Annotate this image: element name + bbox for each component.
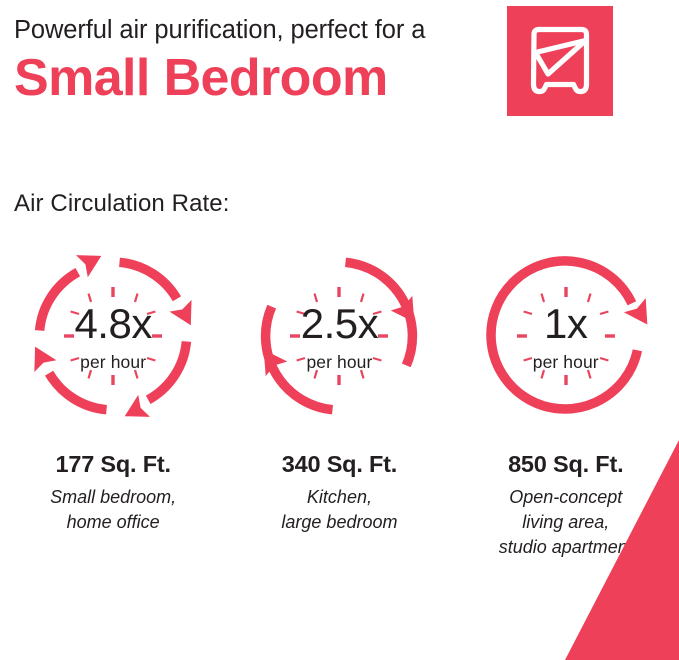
- section-title: Air Circulation Rate:: [14, 190, 230, 218]
- dial-card-1: 4.8x per hour 177 Sq. Ft. Small bedroom,…: [0, 243, 226, 559]
- dial-area-label: 340 Sq. Ft.: [282, 451, 397, 478]
- dial-label-2: 2.5x per hour: [246, 243, 432, 431]
- bed-badge: [507, 6, 613, 116]
- dial-label-1: 4.8x per hour: [20, 243, 206, 431]
- dial-graphic-2: 2.5x per hour: [246, 243, 432, 431]
- dial-unit: per hour: [306, 354, 372, 372]
- dial-row: 4.8x per hour 177 Sq. Ft. Small bedroom,…: [0, 243, 679, 559]
- header: Powerful air purification, perfect for a…: [14, 16, 494, 108]
- dial-description: Open-concept living area, studio apartme…: [499, 485, 633, 559]
- dial-area-label: 177 Sq. Ft.: [55, 451, 170, 478]
- dial-card-2: 2.5x per hour 340 Sq. Ft. Kitchen, large…: [226, 243, 452, 559]
- dial-graphic-3: 1x per hour: [473, 243, 659, 431]
- dial-unit: per hour: [80, 354, 146, 372]
- dial-description: Kitchen, large bedroom: [281, 485, 397, 535]
- page-title: Small Bedroom: [14, 49, 494, 107]
- bed-icon: [507, 6, 613, 116]
- dial-value: 1x: [544, 303, 587, 345]
- header-subline: Powerful air purification, perfect for a: [14, 16, 494, 45]
- dial-graphic-1: 4.8x per hour: [20, 243, 206, 431]
- dial-value: 4.8x: [74, 303, 151, 345]
- dial-card-3: 1x per hour 850 Sq. Ft. Open-concept liv…: [453, 243, 679, 559]
- dial-unit: per hour: [533, 354, 599, 372]
- dial-label-3: 1x per hour: [473, 243, 659, 431]
- dial-description: Small bedroom, home office: [50, 485, 176, 535]
- dial-area-label: 850 Sq. Ft.: [508, 451, 623, 478]
- dial-value: 2.5x: [301, 303, 378, 345]
- infographic-page: Powerful air purification, perfect for a…: [0, 0, 679, 660]
